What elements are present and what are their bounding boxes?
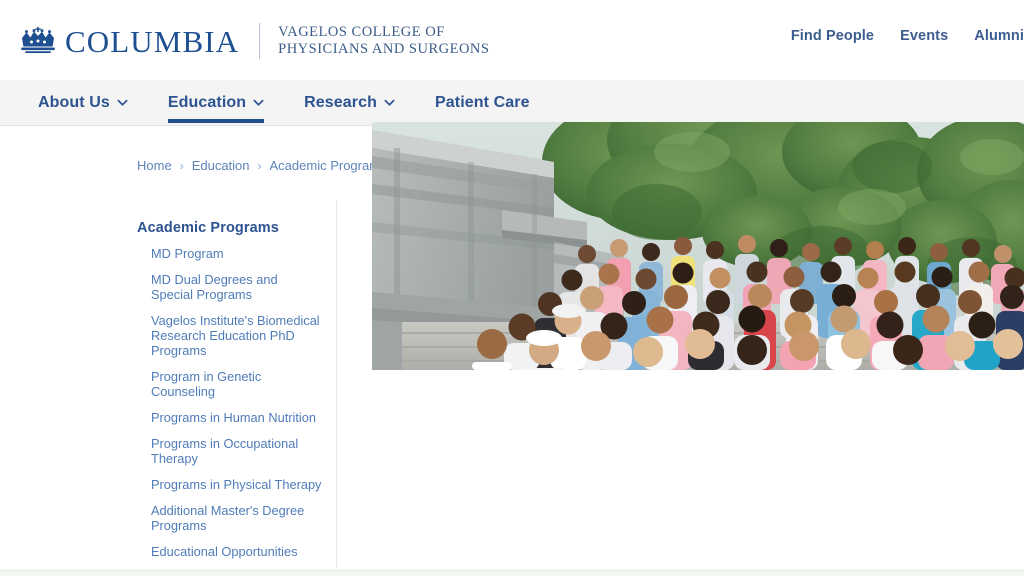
nav-item-research-label: Research (304, 94, 377, 112)
sidebar-item-educational-opportunities[interactable]: Educational Opportunities (151, 544, 322, 559)
utility-link-find-people[interactable]: Find People (791, 28, 874, 44)
breadcrumb-item-education[interactable]: Education (192, 158, 250, 173)
breadcrumb-item-academic-programs[interactable]: Academic Programs (270, 158, 387, 173)
nav-item-patient-care-label: Patient Care (435, 94, 530, 112)
list-item: MD Program (151, 246, 322, 261)
main-nav-items: About Us Education Research (18, 80, 550, 125)
nav-item-about-us-label: About Us (38, 94, 110, 112)
nav-item-education-label: Education (168, 94, 246, 112)
sidebar-item-human-nutrition[interactable]: Programs in Human Nutrition (151, 410, 322, 425)
list-item: Vagelos Institute's Biomedical Research … (151, 313, 322, 358)
page-root: COLUMBIA VAGELOS COLLEGE OF PHYSICIANS A… (0, 0, 1024, 576)
list-item: MD Dual Degrees and Special Programs (151, 272, 322, 302)
sidebar-item-genetic-counseling[interactable]: Program in Genetic Counseling (151, 369, 322, 399)
sidebar-item-occupational-therapy[interactable]: Programs in Occupational Therapy (151, 436, 322, 466)
breadcrumb-item-home[interactable]: Home (137, 158, 172, 173)
sidebar-item-additional-masters[interactable]: Additional Master's Degree Programs (151, 503, 322, 533)
brand-wordmark: COLUMBIA (65, 26, 239, 57)
utility-nav: Find People Events Alumni (791, 28, 1024, 44)
chevron-down-icon (253, 97, 264, 108)
nav-item-education[interactable]: Education (148, 80, 284, 125)
utility-link-alumni[interactable]: Alumni (974, 28, 1024, 44)
list-item: Programs in Physical Therapy (151, 477, 322, 492)
list-item: Educational Opportunities (151, 544, 322, 559)
nav-item-patient-care[interactable]: Patient Care (415, 80, 550, 125)
list-item: Programs in Human Nutrition (151, 410, 322, 425)
sidebar-navigation: Academic Programs MD Program MD Dual Deg… (137, 200, 337, 568)
site-header: COLUMBIA VAGELOS COLLEGE OF PHYSICIANS A… (0, 0, 1024, 80)
hero-image (372, 122, 1024, 370)
sidebar-item-physical-therapy[interactable]: Programs in Physical Therapy (151, 477, 322, 492)
columbia-crown-icon (18, 26, 58, 56)
breadcrumb-separator-icon: › (258, 160, 262, 172)
sidebar-item-md-program[interactable]: MD Program (151, 246, 322, 261)
page-bottom-band (0, 570, 1024, 576)
list-item: Program in Genetic Counseling (151, 369, 322, 399)
sidebar-item-vagelos-phd-programs[interactable]: Vagelos Institute's Biomedical Research … (151, 313, 322, 358)
brand-subtitle: VAGELOS COLLEGE OF PHYSICIANS AND SURGEO… (278, 24, 489, 58)
sidebar-title: Academic Programs (137, 220, 322, 236)
list-item: Additional Master's Degree Programs (151, 503, 322, 533)
site-logo[interactable]: COLUMBIA VAGELOS COLLEGE OF PHYSICIANS A… (18, 20, 489, 62)
nav-item-about-us[interactable]: About Us (18, 80, 148, 125)
breadcrumb-separator-icon: › (180, 160, 184, 172)
brand-divider (259, 23, 260, 59)
brand-subtitle-line1: VAGELOS COLLEGE OF (278, 24, 489, 41)
utility-link-events[interactable]: Events (900, 28, 948, 44)
chevron-down-icon (384, 97, 395, 108)
brand-subtitle-line2: PHYSICIANS AND SURGEONS (278, 41, 489, 58)
list-item: Programs in Occupational Therapy (151, 436, 322, 466)
main-navigation: About Us Education Research (0, 80, 1024, 126)
nav-item-research[interactable]: Research (284, 80, 415, 125)
sidebar-item-list: MD Program MD Dual Degrees and Special P… (137, 246, 322, 559)
chevron-down-icon (117, 97, 128, 108)
sidebar-item-md-dual-degrees[interactable]: MD Dual Degrees and Special Programs (151, 272, 322, 302)
